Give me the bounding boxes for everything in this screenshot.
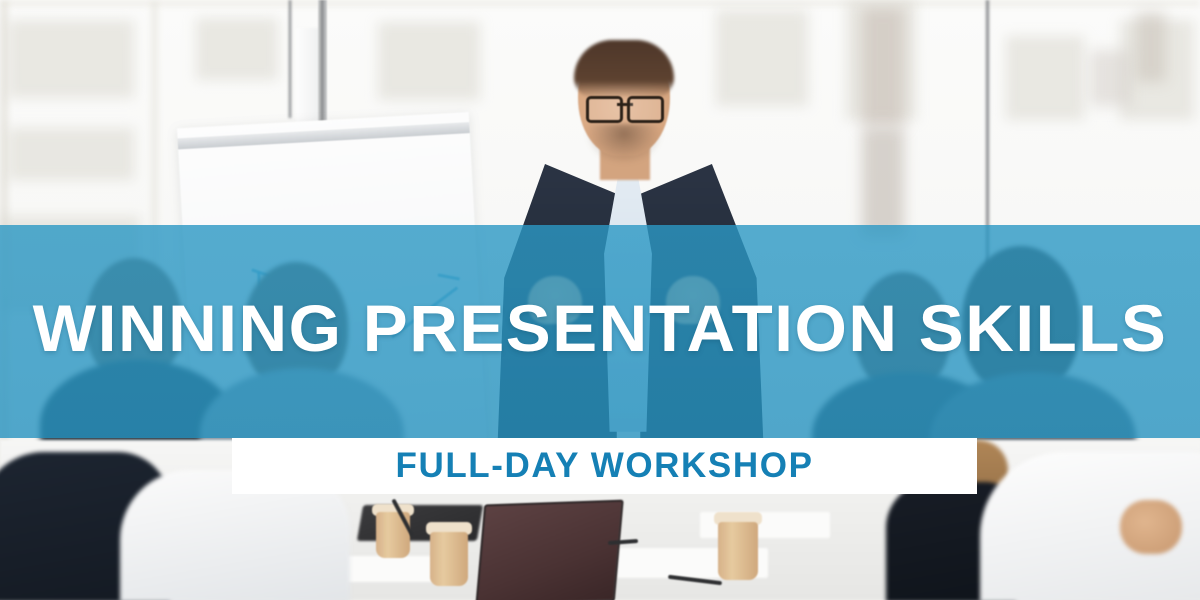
banner-title: WINNING PRESENTATION SKILLS [0,292,1200,364]
outside-building [1136,12,1166,82]
presenter-beard [586,124,662,164]
outside-building [862,128,904,236]
coffee-cup [430,532,468,586]
foreground-attendee-hand [1120,500,1182,554]
window-pane [8,20,134,98]
window-pane [196,18,278,80]
laptop-icon [475,500,623,600]
easel-pole [318,0,327,132]
window-pane [8,128,134,180]
window-pane [716,10,808,106]
outside-building [1090,50,1130,106]
flipchart-clamp [178,122,470,149]
subtitle-band: FULL-DAY WORKSHOP [232,438,977,494]
presenter-hair [574,40,674,98]
window-mullion [288,0,292,118]
event-banner: WINNING PRESENTATION SKILLS FULL-DAY WOR… [0,0,1200,600]
banner-subtitle: FULL-DAY WORKSHOP [395,446,813,486]
eyeglasses-icon [586,96,664,118]
eyeglass-lens-left [586,96,623,123]
eyeglass-lens-right [627,96,664,123]
window-pane [1006,36,1084,120]
window-pane [378,22,480,100]
outside-building [862,8,904,126]
coffee-cup [718,522,758,580]
